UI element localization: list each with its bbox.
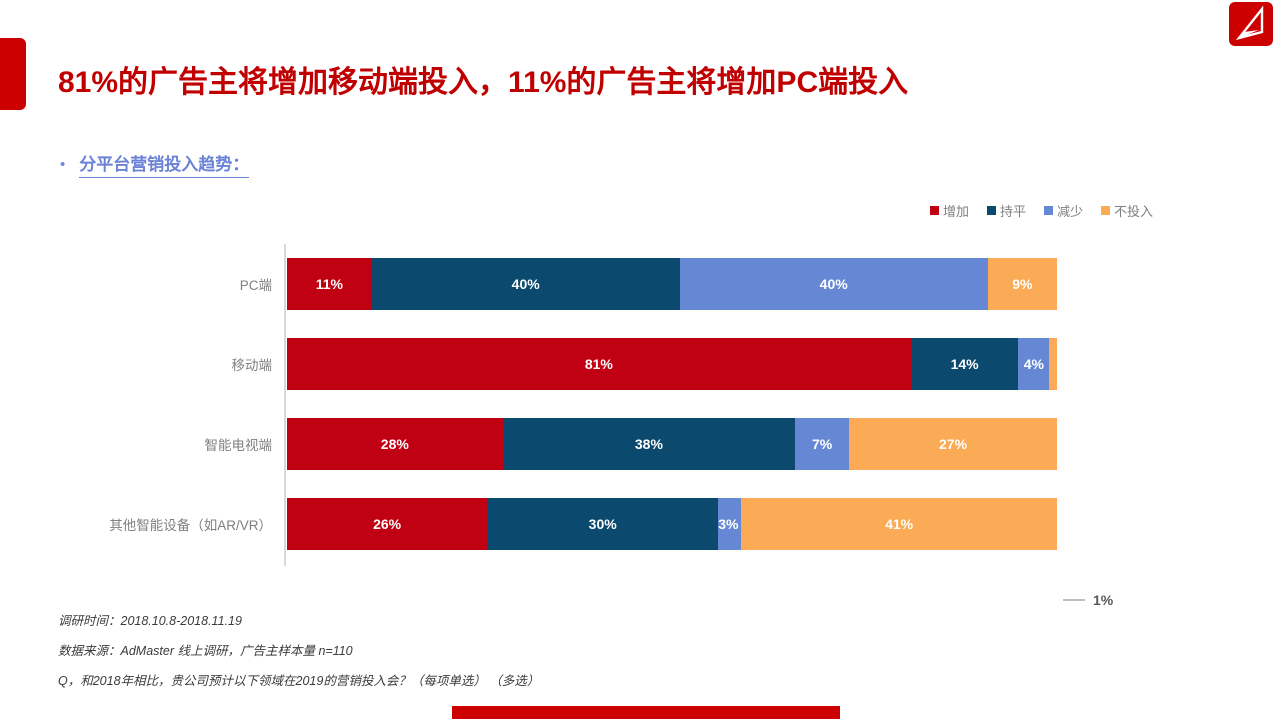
subtitle: • 分平台营销投入趋势： bbox=[60, 150, 249, 178]
bullet-icon: • bbox=[60, 157, 65, 172]
bottom-accent-bar bbox=[452, 706, 840, 719]
bar-segment[interactable] bbox=[1049, 338, 1057, 390]
legend-swatch-increase bbox=[930, 206, 939, 215]
bar-segment-value: 11% bbox=[316, 276, 343, 292]
bar-segment-value: 30% bbox=[589, 516, 617, 532]
category-label: 其他智能设备（如AR/VR） bbox=[0, 514, 272, 534]
legend-label: 增加 bbox=[943, 201, 969, 220]
callout-mobile-noinvest: 1% bbox=[1063, 592, 1113, 608]
legend-swatch-decrease bbox=[1044, 206, 1053, 215]
legend-item[interactable]: 减少 bbox=[1044, 201, 1083, 220]
bar-segment-value: 41% bbox=[885, 516, 913, 532]
bar-track: 26%30%3%41% bbox=[287, 498, 1057, 550]
bar-segment-value: 3% bbox=[718, 516, 738, 532]
bar-segment[interactable]: 40% bbox=[372, 258, 680, 310]
bar-segment-value: 7% bbox=[812, 436, 832, 452]
callout-label: 1% bbox=[1093, 592, 1113, 608]
bar-track: 11%40%40%9% bbox=[287, 258, 1057, 310]
bar-segment[interactable]: 11% bbox=[287, 258, 372, 310]
legend-swatch-flat bbox=[987, 206, 996, 215]
bar-segment-value: 40% bbox=[512, 276, 540, 292]
footnote-survey-period: 调研时间：2018.10.8-2018.11.19 bbox=[58, 610, 539, 629]
bar-segment[interactable]: 4% bbox=[1018, 338, 1049, 390]
legend-label: 不投入 bbox=[1114, 201, 1153, 220]
legend-item[interactable]: 持平 bbox=[987, 201, 1026, 220]
bar-track: 28%38%7%27% bbox=[287, 418, 1057, 470]
legend-item[interactable]: 增加 bbox=[930, 201, 969, 220]
bar-segment[interactable]: 3% bbox=[718, 498, 741, 550]
bar-segment-value: 9% bbox=[1012, 276, 1032, 292]
bar-segment[interactable]: 9% bbox=[988, 258, 1057, 310]
category-label: PC端 bbox=[0, 274, 272, 294]
chart-bar-row: PC端11%40%40%9% bbox=[0, 244, 1279, 324]
legend-label: 持平 bbox=[1000, 201, 1026, 220]
page-title: 81%的广告主将增加移动端投入，11%的广告主将增加PC端投入 bbox=[58, 57, 908, 101]
bar-segment-value: 81% bbox=[585, 356, 613, 372]
callout-leader-line bbox=[1063, 599, 1085, 601]
chart-plot-area: PC端11%40%40%9%移动端81%14%4%智能电视端28%38%7%27… bbox=[0, 240, 1279, 570]
bar-segment-value: 40% bbox=[820, 276, 848, 292]
legend-swatch-noinvest bbox=[1101, 206, 1110, 215]
bar-segment[interactable]: 41% bbox=[741, 498, 1057, 550]
admaster-logo bbox=[1229, 2, 1273, 46]
bar-segment[interactable]: 7% bbox=[795, 418, 849, 470]
bar-segment-value: 27% bbox=[939, 436, 967, 452]
footnote-data-source: 数据来源：AdMaster 线上调研，广告主样本量 n=110 bbox=[58, 640, 539, 659]
bar-segment-value: 4% bbox=[1024, 356, 1044, 372]
bar-segment-value: 38% bbox=[635, 436, 663, 452]
bar-segment-value: 26% bbox=[373, 516, 401, 532]
title-accent-bar bbox=[0, 38, 26, 110]
chart-legend: 增加 持平 减少 不投入 bbox=[930, 201, 1153, 220]
chart-bar-row: 其他智能设备（如AR/VR）26%30%3%41% bbox=[0, 484, 1279, 564]
bar-segment[interactable]: 14% bbox=[911, 338, 1019, 390]
bar-segment[interactable]: 40% bbox=[680, 258, 988, 310]
chart-bar-row: 移动端81%14%4% bbox=[0, 324, 1279, 404]
bar-segment-value: 28% bbox=[381, 436, 409, 452]
bar-segment[interactable]: 27% bbox=[849, 418, 1057, 470]
bar-segment[interactable]: 28% bbox=[287, 418, 503, 470]
subtitle-label: 分平台营销投入趋势： bbox=[79, 150, 249, 178]
category-label: 智能电视端 bbox=[0, 434, 272, 454]
footnote-question: Q，和2018年相比，贵公司预计以下领域在2019的营销投入会？（每项单选） （… bbox=[58, 670, 539, 689]
legend-item[interactable]: 不投入 bbox=[1101, 201, 1153, 220]
stacked-bar-chart: PC端11%40%40%9%移动端81%14%4%智能电视端28%38%7%27… bbox=[0, 240, 1279, 570]
bar-segment[interactable]: 26% bbox=[287, 498, 487, 550]
footnotes: 调研时间：2018.10.8-2018.11.19 数据来源：AdMaster … bbox=[58, 610, 539, 689]
chart-bar-row: 智能电视端28%38%7%27% bbox=[0, 404, 1279, 484]
bar-segment[interactable]: 30% bbox=[487, 498, 718, 550]
legend-label: 减少 bbox=[1057, 201, 1083, 220]
bar-track: 81%14%4% bbox=[287, 338, 1057, 390]
bar-segment[interactable]: 38% bbox=[503, 418, 796, 470]
bar-segment-value: 14% bbox=[951, 356, 979, 372]
bar-segment[interactable]: 81% bbox=[287, 338, 911, 390]
category-label: 移动端 bbox=[0, 354, 272, 374]
